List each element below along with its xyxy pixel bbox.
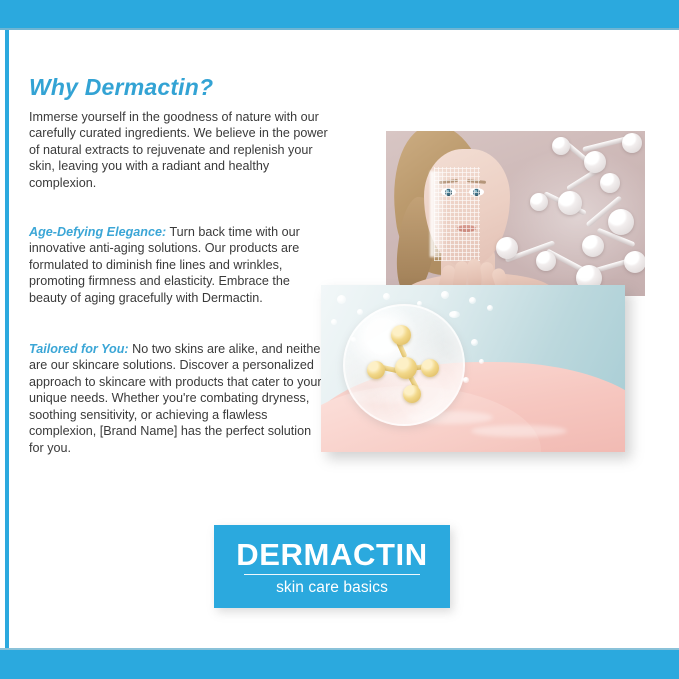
face-molecule-photo [386, 131, 645, 296]
molecule-node [582, 235, 604, 257]
left-accent-bar [5, 30, 9, 648]
brand-tagline: skin care basics [276, 579, 388, 596]
gold-molecule-node [367, 361, 385, 379]
logo-divider [244, 574, 420, 575]
brand-name: DERMACTIN [236, 538, 427, 571]
molecule-node [624, 251, 645, 273]
molecule-node [584, 151, 606, 173]
top-accent-bar-shadow [0, 28, 679, 30]
tailored-body: No two skins are alike, and neither are … [29, 342, 325, 454]
bubble [417, 301, 422, 306]
gold-molecule-node [421, 359, 439, 377]
gold-molecule-node [403, 385, 421, 403]
bubble [469, 297, 476, 304]
molecule-node [558, 191, 582, 215]
age-defying-lead-in: Age-Defying Elegance: [29, 225, 166, 239]
tailored-paragraph: Tailored for You: No two skins are alike… [29, 341, 329, 456]
bubble [383, 293, 390, 300]
gold-molecule-node [391, 325, 411, 345]
cream-fold [471, 425, 567, 437]
bubble [479, 359, 484, 364]
molecule-node [622, 133, 642, 153]
serum-sphere-photo [321, 285, 625, 452]
copy-column: Why Dermactin? Immerse yourself in the g… [29, 74, 329, 456]
gold-molecule-node [395, 357, 417, 379]
bubble [337, 295, 346, 304]
molecule-node [608, 209, 634, 235]
page-title: Why Dermactin? [29, 74, 329, 100]
bubble [441, 291, 449, 299]
product-description-banner: Why Dermactin? Immerse yourself in the g… [0, 0, 679, 679]
molecule-node [496, 237, 518, 259]
age-defying-paragraph: Age-Defying Elegance: Turn back time wit… [29, 224, 329, 306]
intro-paragraph: Immerse yourself in the goodness of natu… [29, 109, 329, 191]
bubble [331, 319, 337, 325]
cheek-glow-highlight [430, 171, 446, 257]
tailored-lead-in: Tailored for You: [29, 342, 129, 356]
molecule-node [552, 137, 570, 155]
bubble [449, 311, 460, 318]
bubble [357, 309, 363, 315]
brand-logo: DERMACTIN skin care basics [214, 525, 450, 608]
molecule-node [530, 193, 548, 211]
bubble [463, 377, 469, 383]
top-accent-bar [0, 0, 679, 28]
molecule-node [600, 173, 620, 193]
molecule-node [536, 251, 556, 271]
bubble [471, 339, 478, 346]
bottom-accent-bar [0, 650, 679, 679]
bubble [487, 305, 493, 311]
bubble [351, 337, 356, 342]
